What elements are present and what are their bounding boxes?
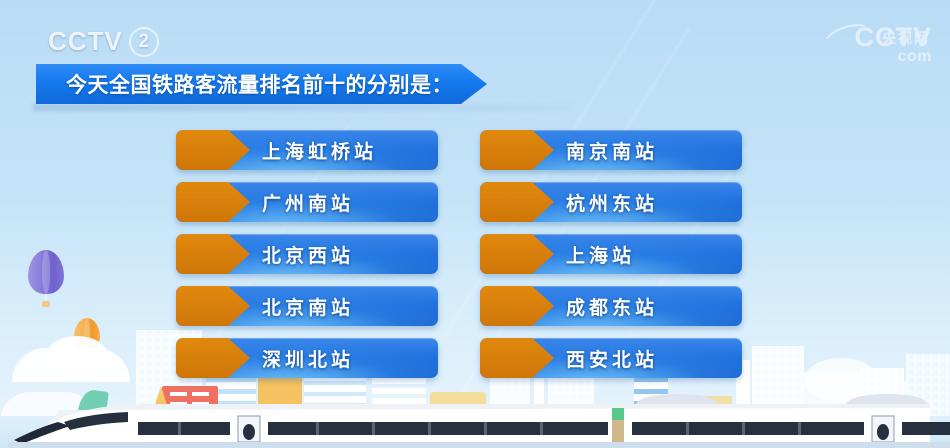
title-banner: 今天全国铁路客流量排名前十的分别是： [36,64,487,104]
chevron-right-icon [480,182,554,222]
list-item[interactable]: 西安北站 [480,338,742,378]
list-item[interactable]: 南京南站 [480,130,742,170]
list-item[interactable]: 上海站 [480,234,742,274]
chevron-right-icon [480,234,554,274]
station-name: 西安北站 [566,345,658,372]
list-item[interactable]: 成都东站 [480,286,742,326]
list-item[interactable]: 北京南站 [176,286,438,326]
list-item[interactable]: 深圳北站 [176,338,438,378]
chevron-right-icon [480,286,554,326]
station-name: 广州南站 [262,189,354,216]
chevron-right-icon [176,182,250,222]
purple-balloon [28,250,64,294]
chevron-right-icon [176,130,250,170]
high-speed-train [0,392,950,448]
station-name: 上海虹桥站 [262,137,377,164]
station-name: 成都东站 [566,293,658,320]
station-name: 南京南站 [566,137,658,164]
chevron-right-icon [480,338,554,378]
ranking-list: 上海虹桥站 南京南站 广州南站 杭州东站 北京西站 上海站 北京南站 成都东站 … [176,130,776,378]
chevron-right-icon [176,286,250,326]
station-name: 杭州东站 [566,189,658,216]
cctv-channel-number: 2 [129,27,159,57]
page-title: 今天全国铁路客流量排名前十的分别是： [66,69,453,99]
station-name: 上海站 [566,241,635,268]
list-item[interactable]: 杭州东站 [480,182,742,222]
station-name: 北京西站 [262,241,354,268]
chevron-right-icon [480,130,554,170]
station-name: 深圳北站 [262,345,354,372]
title-banner-shadow [33,104,573,111]
list-item[interactable]: 广州南站 [176,182,438,222]
cloud [46,336,108,376]
list-item[interactable]: 上海虹桥站 [176,130,438,170]
cctv-logo-text: CCTV [48,26,123,57]
cctv-2-logo: CCTV 2 [48,26,159,57]
chevron-right-icon [176,234,250,274]
chevron-right-icon [176,338,250,378]
list-item[interactable]: 北京西站 [176,234,438,274]
station-name: 北京南站 [262,293,354,320]
